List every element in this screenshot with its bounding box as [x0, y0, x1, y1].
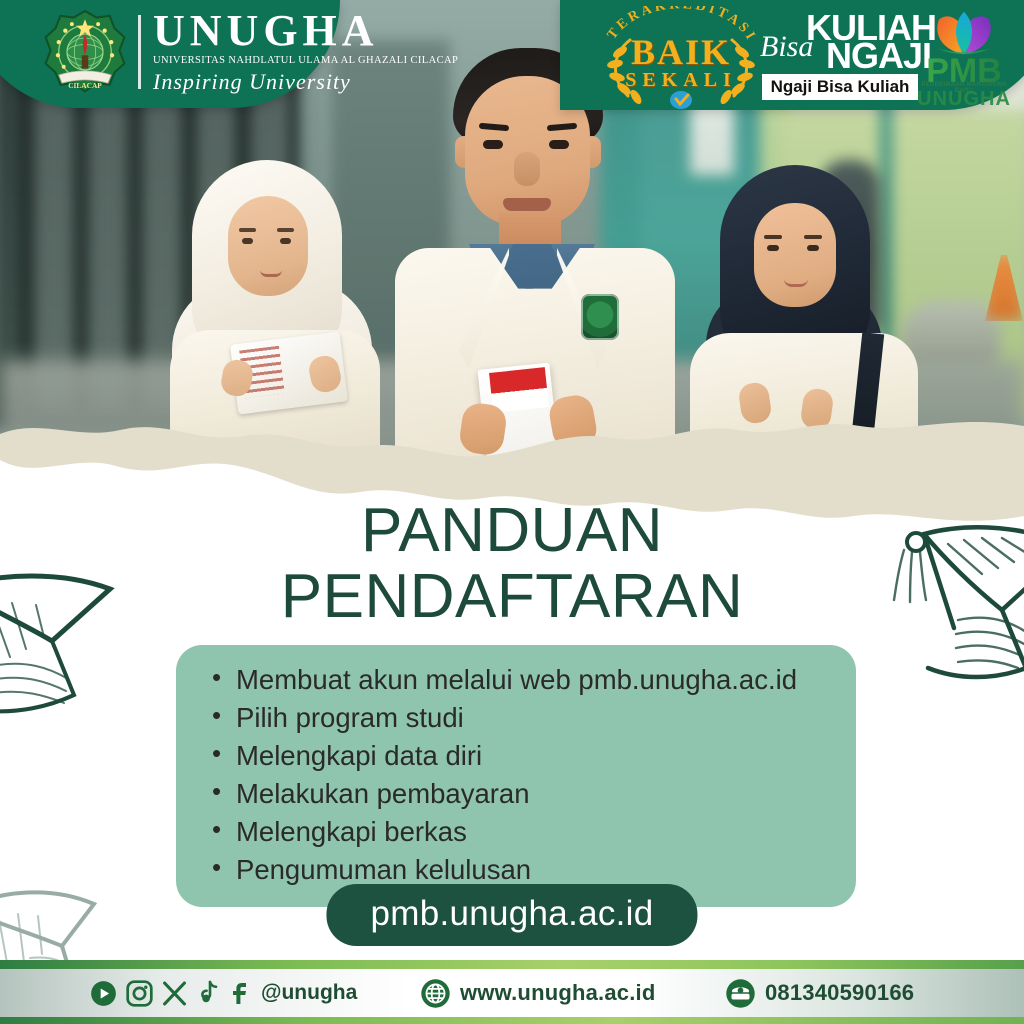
footer-bar: @unugha www.unugha.ac.id 081340590166 — [0, 960, 1024, 1024]
list-item: Melengkapi berkas — [206, 813, 830, 851]
registration-steps-list: Membuat akun melalui web pmb.unugha.ac.i… — [206, 661, 830, 889]
brand-text-block: UNUGHA UNIVERSITAS NAHDLATUL ULAMA AL GH… — [153, 9, 458, 95]
footer-stripe-bottom — [0, 1017, 1024, 1024]
title-line-1: PANDUAN — [0, 498, 1024, 564]
list-item: Pengumuman kelulusan — [206, 851, 830, 889]
poster-canvas: CILACAP UNUGHA UNIVERSITAS NAHDLATUL ULA… — [0, 0, 1024, 1024]
facebook-icon[interactable] — [230, 980, 248, 1006]
pmb-institution: UNUGHA — [912, 88, 1016, 111]
uniform-emblem — [581, 294, 619, 340]
registration-steps-panel: Membuat akun melalui web pmb.unugha.ac.i… — [176, 645, 856, 907]
seal-city-label: CILACAP — [68, 81, 102, 90]
list-item: Melengkapi data diri — [206, 737, 830, 775]
instagram-icon[interactable] — [126, 980, 153, 1007]
social-handle-label: @unugha — [261, 981, 357, 1005]
list-item: Membuat akun melalui web pmb.unugha.ac.i… — [206, 661, 830, 699]
footer-social-group: @unugha — [90, 980, 357, 1007]
youtube-icon[interactable] — [90, 980, 117, 1007]
website-label: www.unugha.ac.id — [460, 980, 656, 1006]
list-item: Melakukan pembayaran — [206, 775, 830, 813]
accreditation-badge: TERAKREDITASI — [596, 6, 766, 106]
page-title: PANDUAN PENDAFTARAN — [0, 498, 1024, 631]
slogan-bisa: Bisa — [760, 32, 813, 62]
footer-website-group[interactable]: www.unugha.ac.id — [420, 978, 656, 1009]
brand-tagline: Inspiring University — [153, 69, 458, 95]
footer-phone-group[interactable]: 081340590166 — [725, 978, 914, 1009]
slogan-boxed: Ngaji Bisa Kuliah — [762, 74, 918, 100]
tiktok-icon[interactable] — [196, 980, 221, 1006]
cta-website-button[interactable]: pmb.unugha.ac.id — [326, 884, 697, 946]
accreditation-grade-sub: SEKALI — [596, 70, 766, 90]
ban-pt-seal-icon — [670, 91, 692, 109]
accreditation-grade: BAIK — [596, 34, 766, 70]
title-line-2: PENDAFTARAN — [0, 564, 1024, 630]
footer-stripe-top — [0, 960, 1024, 969]
pmb-logo: PMB PENERIMAAN MAHASISWA BARU UNUGHA — [912, 6, 1016, 106]
brand-name: UNUGHA — [153, 9, 458, 53]
unugha-seal-icon: CILACAP — [44, 9, 126, 95]
phone-label: 081340590166 — [765, 980, 914, 1006]
list-item: Pilih program studi — [206, 699, 830, 737]
brand-full-name: UNIVERSITAS NAHDLATUL ULAMA AL GHAZALI C… — [153, 53, 458, 69]
logo-divider — [138, 15, 141, 89]
x-icon[interactable] — [162, 981, 187, 1006]
phone-icon — [725, 978, 756, 1009]
slogan-block: KULIAH Bisa NGAJI Ngaji Bisa Kuliah — [760, 8, 920, 104]
globe-icon — [420, 978, 451, 1009]
university-logo-lockup: CILACAP UNUGHA UNIVERSITAS NAHDLATUL ULA… — [44, 9, 458, 95]
